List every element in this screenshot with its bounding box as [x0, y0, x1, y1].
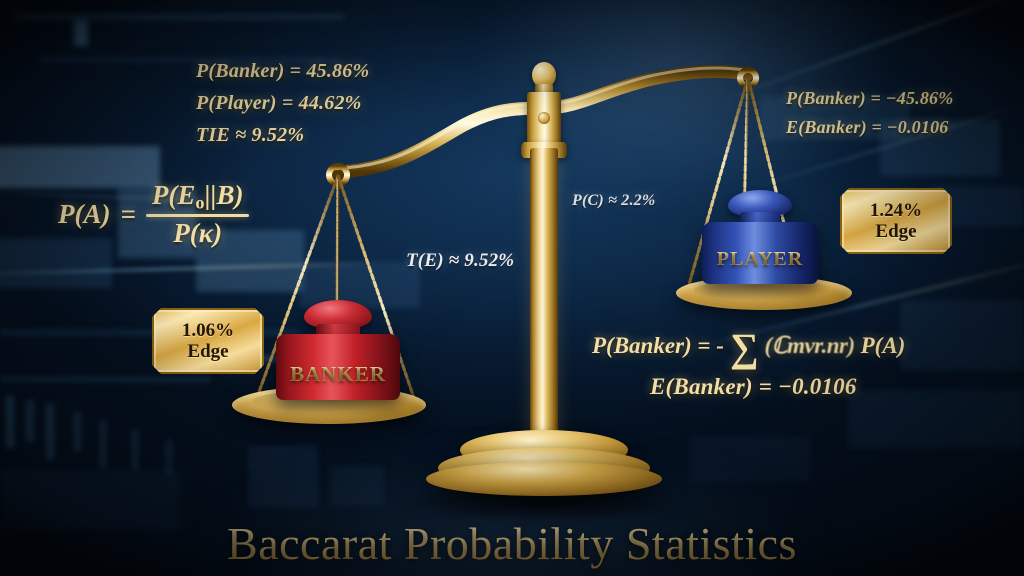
infographic-canvas: BANKER PLAYER P(Banker) = 45.86% P(Playe… — [0, 0, 1024, 576]
vignette — [0, 0, 1024, 576]
